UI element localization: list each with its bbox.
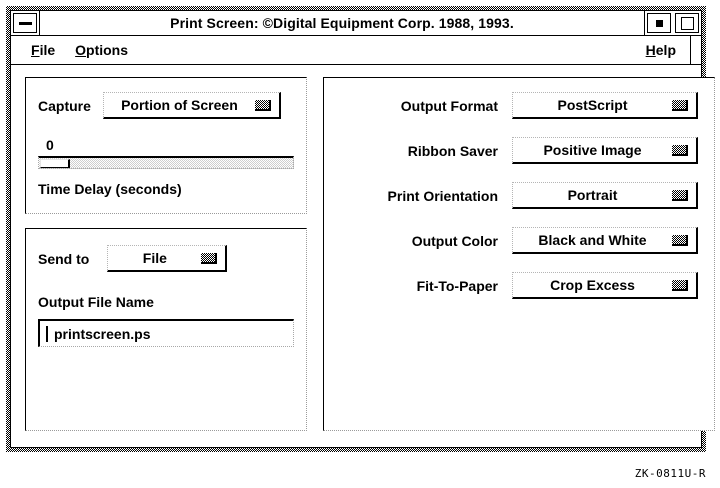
output-color-label: Output Color — [340, 233, 512, 249]
output-color-option-menu[interactable]: Black and White — [512, 227, 698, 254]
menu-item-help-mnemonic: H — [646, 42, 656, 58]
print-orientation-value: Portrait — [523, 187, 662, 203]
maximize-button[interactable] — [675, 13, 699, 33]
fit-to-paper-label: Fit-To-Paper — [340, 278, 512, 294]
output-file-name-value: printscreen.ps — [54, 326, 150, 342]
time-delay-slider[interactable] — [38, 156, 294, 169]
option-row-fit-to-paper: Fit-To-Paper Crop Excess — [340, 272, 698, 299]
capture-row: Capture Portion of Screen — [38, 92, 294, 119]
menu-item-file[interactable]: File — [21, 40, 65, 60]
option-menu-icon — [672, 280, 688, 291]
option-menu-icon — [255, 100, 271, 111]
output-color-value: Black and White — [523, 232, 662, 248]
time-delay-slider-thumb[interactable] — [40, 159, 70, 168]
menu-item-file-mnemonic: F — [31, 42, 40, 58]
output-file-name-input[interactable]: printscreen.ps — [38, 319, 294, 347]
output-format-option-menu[interactable]: PostScript — [512, 92, 698, 119]
option-row-print-orientation: Print Orientation Portrait — [340, 182, 698, 209]
capture-option-value: Portion of Screen — [114, 97, 245, 113]
print-options-panel: Output Format PostScript Ribbon Saver Po… — [323, 77, 715, 431]
maximize-icon — [681, 17, 694, 30]
send-to-option-menu[interactable]: File — [107, 245, 227, 272]
fit-to-paper-option-menu[interactable]: Crop Excess — [512, 272, 698, 299]
capture-option-menu[interactable]: Portion of Screen — [103, 92, 281, 119]
ribbon-saver-label: Ribbon Saver — [340, 143, 512, 159]
capture-label: Capture — [38, 98, 91, 114]
window-title: Print Screen: ©Digital Equipment Corp. 1… — [40, 11, 644, 35]
menu-bar-help-divider — [690, 36, 691, 64]
menu-item-help[interactable]: Help — [636, 40, 686, 60]
option-menu-icon — [672, 145, 688, 156]
window-client-area: Print Screen: ©Digital Equipment Corp. 1… — [10, 10, 702, 448]
time-delay-slider-block: 0 Time Delay (seconds) — [38, 137, 294, 197]
menu-item-file-label: ile — [40, 42, 56, 58]
minimize-icon — [656, 20, 663, 27]
print-orientation-option-menu[interactable]: Portrait — [512, 182, 698, 209]
figure-id-caption: ZK-0811U-R — [635, 467, 706, 480]
option-menu-icon — [672, 190, 688, 201]
send-to-panel: Send to File Output File Name printscree… — [25, 228, 307, 431]
left-column: Capture Portion of Screen 0 Time Delay (… — [25, 77, 307, 431]
menu-bar: File Options Help — [11, 35, 701, 65]
option-row-output-color: Output Color Black and White — [340, 227, 698, 254]
print-orientation-label: Print Orientation — [340, 188, 512, 204]
output-format-label: Output Format — [340, 98, 512, 114]
option-row-output-format: Output Format PostScript — [340, 92, 698, 119]
ribbon-saver-value: Positive Image — [523, 142, 662, 158]
output-file-name-label: Output File Name — [38, 294, 294, 310]
text-caret — [46, 326, 48, 342]
menu-item-options-label: ptions — [86, 42, 128, 58]
menu-item-help-label: elp — [656, 42, 676, 58]
right-column: Output Format PostScript Ribbon Saver Po… — [323, 77, 715, 431]
menu-item-options-mnemonic: O — [75, 42, 86, 58]
time-delay-value: 0 — [38, 137, 294, 153]
time-delay-label: Time Delay (seconds) — [38, 181, 294, 197]
option-row-ribbon-saver: Ribbon Saver Positive Image — [340, 137, 698, 164]
capture-panel: Capture Portion of Screen 0 Time Delay (… — [25, 77, 307, 214]
send-to-row: Send to File — [38, 245, 294, 272]
send-to-option-value: File — [118, 250, 191, 266]
title-bar: Print Screen: ©Digital Equipment Corp. 1… — [11, 11, 701, 35]
window-menu-icon — [19, 22, 32, 25]
option-menu-icon — [672, 235, 688, 246]
option-menu-icon — [201, 253, 217, 264]
option-menu-icon — [672, 100, 688, 111]
title-bar-divider-right — [644, 11, 645, 35]
window-menu-button[interactable] — [13, 13, 37, 33]
application-window: Print Screen: ©Digital Equipment Corp. 1… — [6, 6, 706, 452]
ribbon-saver-option-menu[interactable]: Positive Image — [512, 137, 698, 164]
fit-to-paper-value: Crop Excess — [523, 277, 662, 293]
minimize-button[interactable] — [647, 13, 671, 33]
menu-item-options[interactable]: Options — [65, 40, 138, 60]
output-format-value: PostScript — [523, 97, 662, 113]
work-area: Capture Portion of Screen 0 Time Delay (… — [11, 65, 701, 445]
send-to-label: Send to — [38, 251, 89, 267]
